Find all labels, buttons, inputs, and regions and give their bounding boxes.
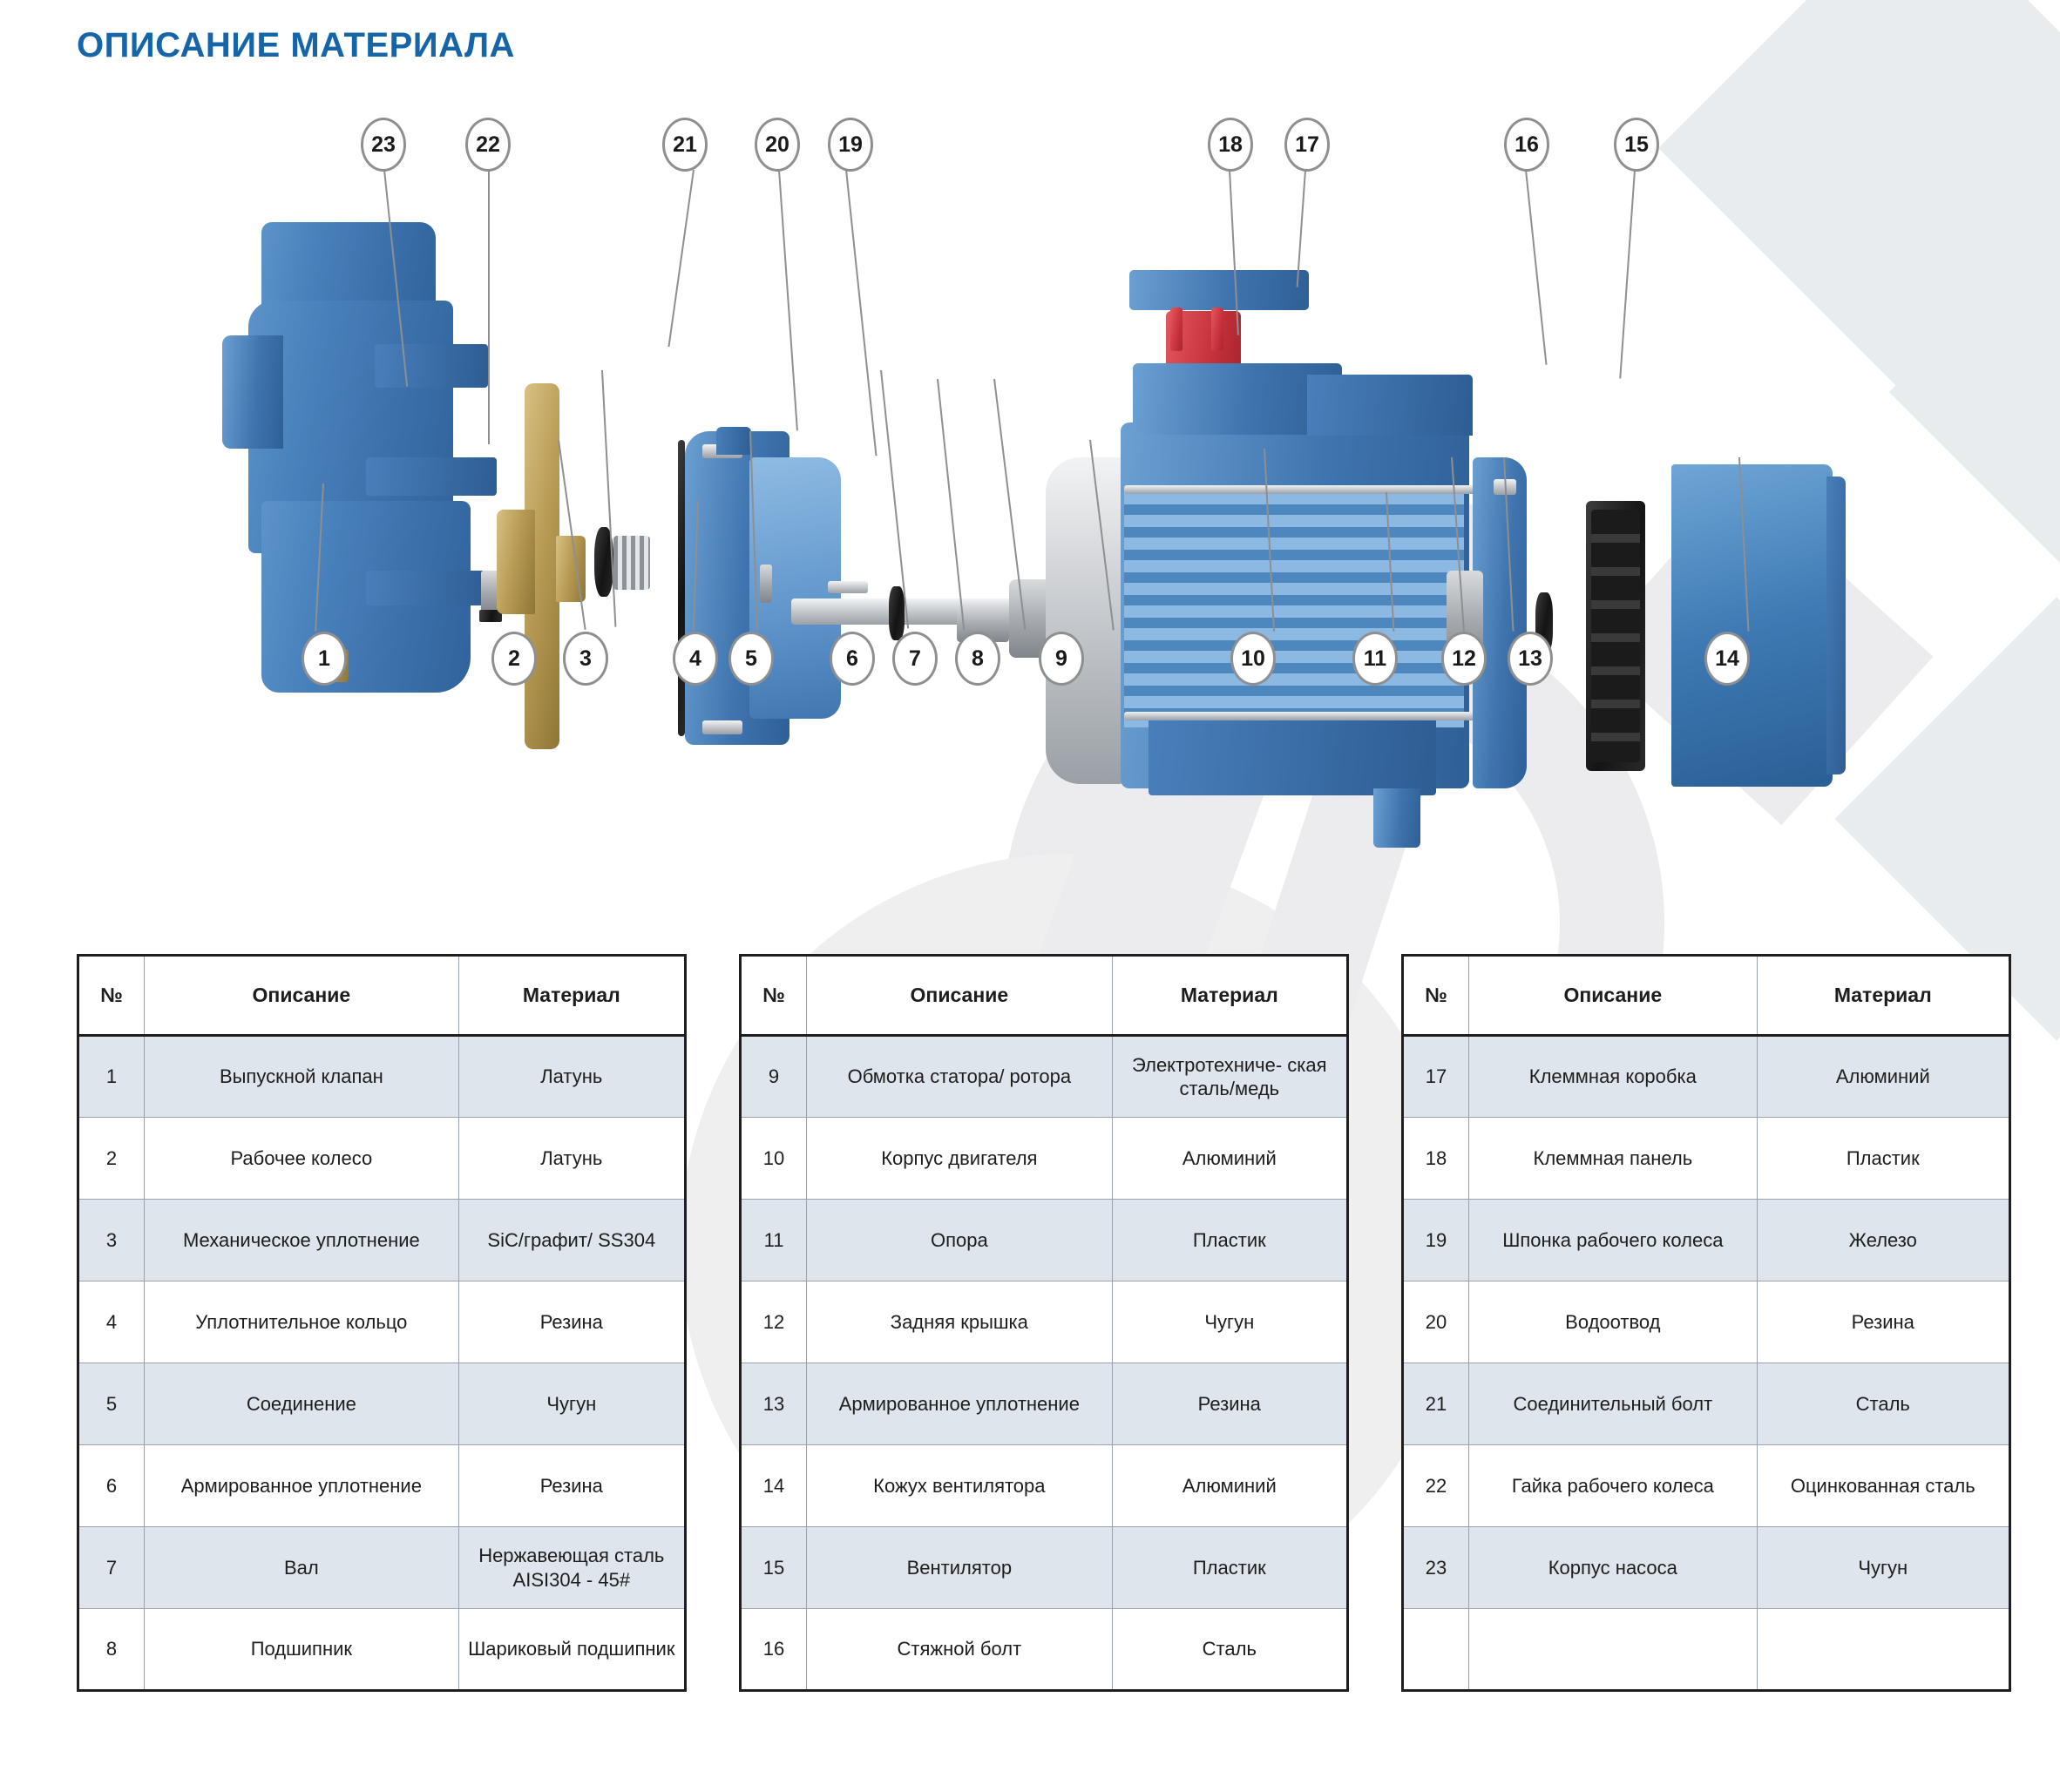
callout-20[interactable]: 20 (755, 118, 800, 172)
callout-label: 19 (838, 132, 863, 158)
callout-label: 14 (1715, 646, 1739, 672)
cell-material: Резина (1112, 1363, 1347, 1445)
callout-label: 16 (1515, 132, 1539, 158)
cell-material: Чугун (1757, 1527, 2009, 1609)
cooling-fan-blades (1591, 510, 1640, 762)
callout-7[interactable]: 7 (892, 632, 938, 686)
tie-bolt (1124, 485, 1490, 494)
callout-6[interactable]: 6 (830, 632, 875, 686)
cell-description: Водоотвод (1469, 1281, 1757, 1363)
callout-label: 11 (1364, 646, 1386, 672)
connecting-bolt (702, 720, 742, 734)
table-row: 11ОпораПластик (741, 1200, 1348, 1281)
cell-description: Опора (807, 1200, 1113, 1281)
cell-num: 11 (741, 1200, 807, 1281)
leader-line (937, 379, 965, 631)
cell-description: Клеммная панель (1469, 1118, 1757, 1200)
cell-material: Железо (1757, 1200, 2009, 1281)
coupling-bracket-boss (716, 427, 751, 455)
callout-5[interactable]: 5 (728, 632, 774, 686)
cell-num: 23 (1403, 1527, 1469, 1609)
table-row: 4Уплотнительное кольцоРезина (78, 1281, 686, 1363)
cell-num: 3 (78, 1200, 145, 1281)
cell-num: 4 (78, 1281, 145, 1363)
cell-num: 7 (78, 1527, 145, 1609)
cell-num (1403, 1609, 1469, 1691)
cell-num: 2 (78, 1118, 145, 1200)
callout-8[interactable]: 8 (955, 632, 1000, 686)
callout-10[interactable]: 10 (1230, 632, 1276, 686)
callout-label: 13 (1518, 646, 1542, 672)
cell-material (1757, 1609, 2009, 1691)
cell-num: 12 (741, 1281, 807, 1363)
callout-label: 18 (1218, 132, 1243, 158)
cell-description: Обмотка статора/ ротора (807, 1036, 1113, 1118)
impeller-hub (497, 510, 535, 614)
table-row: 22Гайка рабочего колесаОцинкованная стал… (1403, 1445, 2010, 1527)
cell-description: Клеммная коробка (1469, 1036, 1757, 1118)
cell-num: 19 (1403, 1200, 1469, 1281)
motor-support (1373, 788, 1420, 848)
table-row: 5СоединениеЧугун (78, 1363, 686, 1445)
callout-2[interactable]: 2 (491, 632, 537, 686)
pump-casing-rib (366, 457, 497, 496)
table-row: 7ВалНержавеющая сталь AISI304 - 45# (78, 1527, 686, 1609)
cell-description: Корпус двигателя (807, 1118, 1113, 1200)
cell-material: Пластик (1112, 1200, 1347, 1281)
column-header-num: № (741, 956, 807, 1036)
callout-label: 3 (579, 646, 592, 672)
cell-material: Пластик (1112, 1527, 1347, 1609)
pump-casing-rib (366, 571, 488, 605)
callout-4[interactable]: 4 (673, 632, 718, 686)
material-table-3: № Описание Материал 17Клеммная коробкаАл… (1401, 954, 2011, 1692)
table-row: 20ВодоотводРезина (1403, 1281, 2010, 1363)
callout-22[interactable]: 22 (465, 118, 511, 172)
cell-num: 8 (78, 1609, 145, 1691)
table-row: 2Рабочее колесоЛатунь (78, 1118, 686, 1200)
table-row: 15ВентиляторПластик (741, 1527, 1348, 1609)
terminal-panel-pin (1170, 308, 1182, 351)
cell-description: Рабочее колесо (145, 1118, 459, 1200)
terminal-panel-pin (1211, 308, 1223, 351)
cell-num: 10 (741, 1118, 807, 1200)
column-header-material: Материал (1112, 956, 1347, 1036)
table-row: 8ПодшипникШариковый подшипник (78, 1609, 686, 1691)
cell-description: Вентилятор (807, 1527, 1113, 1609)
cell-material: Чугун (458, 1363, 685, 1445)
table-1-body: 1Выпускной клапанЛатунь2Рабочее колесоЛа… (78, 1036, 686, 1691)
table-row (1403, 1609, 2010, 1691)
cell-description: Подшипник (145, 1609, 459, 1691)
callout-11[interactable]: 11 (1352, 632, 1398, 686)
column-header-num: № (1403, 956, 1469, 1036)
callout-label: 8 (972, 646, 984, 672)
leader-line (488, 170, 490, 444)
cell-num: 9 (741, 1036, 807, 1118)
table-row: 10Корпус двигателяАлюминий (741, 1118, 1348, 1200)
leader-line (667, 170, 695, 347)
material-table-1: № Описание Материал 1Выпускной клапанЛат… (77, 954, 687, 1692)
cell-description: Соединение (145, 1363, 459, 1445)
cell-material: SiC/графит/ SS304 (458, 1200, 685, 1281)
reinforced-seal-ring (678, 440, 685, 736)
callout-label: 20 (765, 132, 789, 158)
motor-foot (1149, 719, 1436, 795)
callout-14[interactable]: 14 (1704, 632, 1750, 686)
table-3-body: 17Клеммная коробкаАлюминий18Клеммная пан… (1403, 1036, 2010, 1691)
tie-bolt (1124, 712, 1490, 720)
cell-description: Армированное уплотнение (145, 1445, 459, 1527)
callout-label: 1 (318, 646, 330, 672)
callout-3[interactable]: 3 (563, 632, 608, 686)
cell-material: Оцинкованная сталь (1757, 1445, 2009, 1527)
terminal-box-lid (1129, 270, 1309, 310)
callout-18[interactable]: 18 (1208, 118, 1253, 172)
cell-num: 14 (741, 1445, 807, 1527)
callout-13[interactable]: 13 (1508, 632, 1553, 686)
cell-description: Гайка рабочего колеса (1469, 1445, 1757, 1527)
cell-material: Сталь (1112, 1609, 1347, 1691)
leader-line (778, 170, 798, 430)
column-header-num: № (78, 956, 145, 1036)
cell-num: 21 (1403, 1363, 1469, 1445)
callout-12[interactable]: 12 (1441, 632, 1487, 686)
cell-description: Вал (145, 1527, 459, 1609)
terminal-box-body (1307, 375, 1473, 436)
cell-num: 13 (741, 1363, 807, 1445)
callout-1[interactable]: 1 (302, 632, 347, 686)
callout-label: 12 (1452, 646, 1476, 672)
cell-description: Кожух вентилятора (807, 1445, 1113, 1527)
table-row: 21Соединительный болтСталь (1403, 1363, 2010, 1445)
cell-material: Алюминий (1112, 1118, 1347, 1200)
pump-casing-rib (375, 344, 488, 388)
cell-description: Соединительный болт (1469, 1363, 1757, 1445)
cell-material: Чугун (1112, 1281, 1347, 1363)
cell-num: 22 (1403, 1445, 1469, 1527)
cell-description: Задняя крышка (807, 1281, 1113, 1363)
pump-casing-flange (222, 335, 283, 449)
callout-label: 5 (745, 646, 757, 672)
reinforced-seal (889, 586, 905, 640)
column-header-material: Материал (458, 956, 685, 1036)
column-header-description: Описание (807, 956, 1113, 1036)
table-row: 19Шпонка рабочего колесаЖелезо (1403, 1200, 2010, 1281)
seal-spring (613, 536, 650, 590)
cell-description: Уплотнительное кольцо (145, 1281, 459, 1363)
table-row: 12Задняя крышкаЧугун (741, 1281, 1348, 1363)
motor-cooling-fins (1124, 492, 1464, 727)
table-row: 13Армированное уплотнениеРезина (741, 1363, 1348, 1445)
callout-label: 7 (909, 646, 921, 672)
cell-num: 6 (78, 1445, 145, 1527)
callout-17[interactable]: 17 (1284, 118, 1330, 172)
table-row: 9Обмотка статора/ ротораЭлектротехниче- … (741, 1036, 1348, 1118)
cell-material: Нержавеющая сталь AISI304 - 45# (458, 1527, 685, 1609)
callout-label: 2 (508, 646, 520, 672)
cell-num: 1 (78, 1036, 145, 1118)
fan-cover-edge (1826, 477, 1846, 774)
cell-material: Латунь (458, 1036, 685, 1118)
table-row: 17Клеммная коробкаАлюминий (1403, 1036, 2010, 1118)
callout-label: 4 (689, 646, 701, 672)
cell-material: Алюминий (1757, 1036, 2009, 1118)
impeller-shaft-boss (556, 536, 586, 602)
cell-material: Электротехниче- ская сталь/медь (1112, 1036, 1347, 1118)
cell-num: 15 (741, 1527, 807, 1609)
cell-material: Сталь (1757, 1363, 2009, 1445)
pump-exploded-diagram: 23 22 21 20 19 18 17 16 15 1 2 3 4 5 6 7… (0, 83, 2060, 954)
cell-material: Латунь (458, 1118, 685, 1200)
column-header-description: Описание (145, 956, 459, 1036)
cell-material: Шариковый подшипник (458, 1609, 685, 1691)
cell-description (1469, 1609, 1757, 1691)
table-row: 1Выпускной клапанЛатунь (78, 1036, 686, 1118)
callout-label: 9 (1055, 646, 1067, 672)
leader-line (1525, 170, 1548, 365)
table-2-body: 9Обмотка статора/ ротораЭлектротехниче- … (741, 1036, 1348, 1691)
impeller-key (828, 581, 868, 593)
table-row: 23Корпус насосаЧугун (1403, 1527, 2010, 1609)
callout-label: 6 (846, 646, 858, 672)
cell-material: Резина (458, 1281, 685, 1363)
callout-label: 10 (1241, 646, 1265, 672)
leader-line (1619, 170, 1636, 379)
callout-9[interactable]: 9 (1039, 632, 1084, 686)
table-row: 14Кожух вентилятораАлюминий (741, 1445, 1348, 1527)
cell-num: 20 (1403, 1281, 1469, 1363)
fan-cover (1671, 464, 1833, 787)
table-row: 16Стяжной болтСталь (741, 1609, 1348, 1691)
table-row: 6Армированное уплотнениеРезина (78, 1445, 686, 1527)
callout-15[interactable]: 15 (1614, 118, 1659, 172)
callout-19[interactable]: 19 (828, 118, 873, 172)
column-header-material: Материал (1757, 956, 2009, 1036)
callout-label: 22 (476, 132, 500, 158)
cell-material: Пластик (1757, 1118, 2009, 1200)
callout-label: 21 (673, 132, 697, 158)
cell-description: Корпус насоса (1469, 1527, 1757, 1609)
column-header-description: Описание (1469, 956, 1757, 1036)
cell-material: Резина (1757, 1281, 2009, 1363)
callout-label: 23 (371, 132, 396, 158)
leader-line (845, 170, 877, 456)
cell-num: 5 (78, 1363, 145, 1445)
cell-num: 17 (1403, 1036, 1469, 1118)
cell-description: Механическое уплотнение (145, 1200, 459, 1281)
page-title: ОПИСАНИЕ МАТЕРИАЛА (77, 26, 515, 65)
callout-label: 15 (1624, 132, 1649, 158)
cell-description: Стяжной болт (807, 1609, 1113, 1691)
material-table-2: № Описание Материал 9Обмотка статора/ ро… (739, 954, 1349, 1692)
cell-num: 18 (1403, 1118, 1469, 1200)
water-drain (760, 565, 772, 603)
cell-description: Выпускной клапан (145, 1036, 459, 1118)
cell-description: Шпонка рабочего колеса (1469, 1200, 1757, 1281)
cell-num: 16 (741, 1609, 807, 1691)
callout-16[interactable]: 16 (1504, 118, 1549, 172)
table-row: 3Механическое уплотнениеSiC/графит/ SS30… (78, 1200, 686, 1281)
callout-23[interactable]: 23 (361, 118, 406, 172)
cell-material: Резина (458, 1445, 685, 1527)
table-row: 18Клеммная панельПластик (1403, 1118, 2010, 1200)
cell-material: Алюминий (1112, 1445, 1347, 1527)
callout-label: 17 (1295, 132, 1319, 158)
cell-description: Армированное уплотнение (807, 1363, 1113, 1445)
callout-21[interactable]: 21 (662, 118, 708, 172)
